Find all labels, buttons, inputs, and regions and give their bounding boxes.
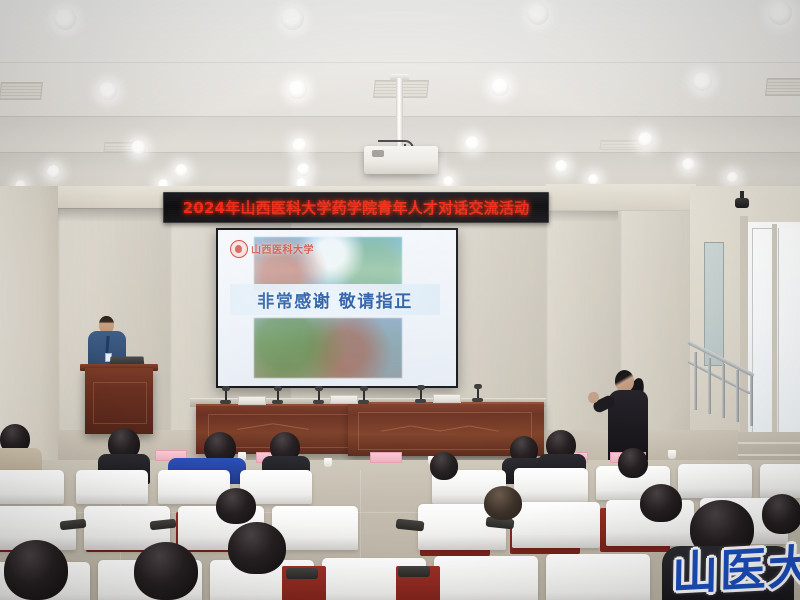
audience-chair [434,556,538,600]
audience-head [618,448,648,478]
projector-lens-icon [372,150,384,157]
questioner-head [615,370,634,392]
led-banner-text: 2024年山西医科大学药学院青年人才对话交流活动 [183,197,530,218]
railing-post [736,370,739,422]
audience-head [484,486,522,520]
chair-armrest [286,568,318,579]
audience-head [762,494,800,534]
desk-name-card [433,394,461,403]
audience-chair [514,468,588,502]
paper-cup [324,458,332,467]
ceiling-downlight [638,132,653,147]
ceiling-downlight [281,7,304,30]
ceiling-downlight [727,172,738,183]
ceiling-downlight [693,72,712,91]
audience-head [640,484,682,522]
desk-name-card [238,396,266,405]
ceiling-vent [765,78,800,96]
chair-armrest [398,566,430,577]
ceiling-downlight [555,160,568,173]
audience-torso [662,546,794,600]
railing-post [722,364,725,418]
ceiling-downlight [292,138,307,153]
audience-head [4,540,68,600]
audience-chair [76,470,148,504]
audience-head [228,522,286,574]
ceiling-downlight [47,165,60,178]
audience-head [430,452,458,480]
door-glass-panel [778,228,800,433]
door-glass-panel [752,228,774,435]
ceiling-vent [599,140,642,150]
slide-headline: 非常感谢 敬请指正 [257,287,412,312]
interior-window [704,242,724,366]
ceiling-vent [0,82,43,100]
audience-head [134,542,198,600]
ceiling-downlight [491,78,509,96]
university-emblem-icon [230,240,248,258]
railing-post [708,358,711,414]
audience-head [216,488,256,524]
ceiling-downlight [527,3,549,25]
led-banner: 2024年山西医科大学药学院青年人才对话交流活动 [163,192,549,223]
audience-chair [512,502,600,548]
slide-photo-campus [254,318,402,378]
ceiling-downlight [465,136,480,151]
ceiling-downlight [54,8,76,30]
ceiling-downlight [99,82,117,100]
desk-name-card [330,395,358,404]
ceiling-downlight [175,164,188,177]
paper-cup [668,450,676,459]
audience-chair [760,464,800,498]
audience-chair [546,554,650,600]
audience-chair [0,470,64,504]
ceiling-downlight [682,158,695,171]
ceiling-downlight [288,80,307,99]
railing-post [694,352,697,410]
projection-screen-frame: 山西医科大学 非常感谢 敬请指正 [216,228,458,388]
railing-post [750,376,753,426]
ceiling-downlight [768,1,792,25]
slide-title-band: 非常感谢 敬请指正 [230,284,440,315]
audience-chair [678,464,752,498]
ceiling-soffit [546,184,696,211]
projection-screen: 山西医科大学 非常感谢 敬请指正 [218,230,456,386]
ceiling-downlight [297,163,310,176]
table-name-card [370,452,402,463]
speaker-podium [85,368,153,434]
lecture-hall-photo: 2024年山西医科大学药学院青年人才对话交流活动 山西医科大学 非常感谢 敬请指… [0,0,800,600]
security-camera-icon [735,198,749,208]
ceiling-downlight [131,140,146,155]
slide-university-name: 山西医科大学 [251,241,314,256]
